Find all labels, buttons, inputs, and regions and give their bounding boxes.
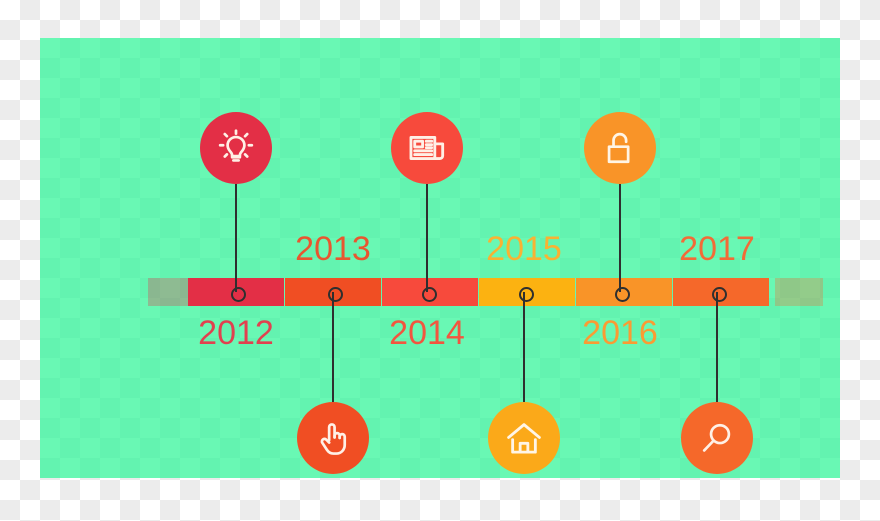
- year-label-2013: 2013: [295, 230, 371, 269]
- timeline-node-2012[interactable]: [231, 287, 246, 302]
- year-label-2014: 2014: [389, 314, 465, 353]
- timeline-canvas: 201220132014201520162017: [40, 38, 840, 478]
- home-icon[interactable]: [488, 402, 560, 474]
- bar-fade-left: [148, 278, 188, 306]
- connector-stem-2016: [619, 184, 621, 292]
- connector-stem-2013: [332, 292, 334, 402]
- year-label-2012: 2012: [198, 314, 274, 353]
- timeline-node-2013[interactable]: [328, 287, 343, 302]
- timeline-node-2015[interactable]: [519, 287, 534, 302]
- year-label-2017: 2017: [679, 230, 755, 269]
- connector-stem-2012: [235, 184, 237, 292]
- connector-stem-2014: [426, 184, 428, 292]
- timeline-node-2016[interactable]: [615, 287, 630, 302]
- pointing-hand-icon[interactable]: [297, 402, 369, 474]
- connector-stem-2017: [716, 292, 718, 402]
- newspaper-icon[interactable]: [391, 112, 463, 184]
- magnifier-icon[interactable]: [681, 402, 753, 474]
- year-label-2016: 2016: [582, 314, 658, 353]
- lightbulb-icon[interactable]: [200, 112, 272, 184]
- infographic-stage: 201220132014201520162017: [0, 0, 880, 521]
- year-label-2015: 2015: [486, 230, 562, 269]
- timeline-node-2014[interactable]: [422, 287, 437, 302]
- connector-stem-2015: [523, 292, 525, 402]
- bar-fade-right: [775, 278, 823, 306]
- unlock-icon[interactable]: [584, 112, 656, 184]
- timeline-node-2017[interactable]: [712, 287, 727, 302]
